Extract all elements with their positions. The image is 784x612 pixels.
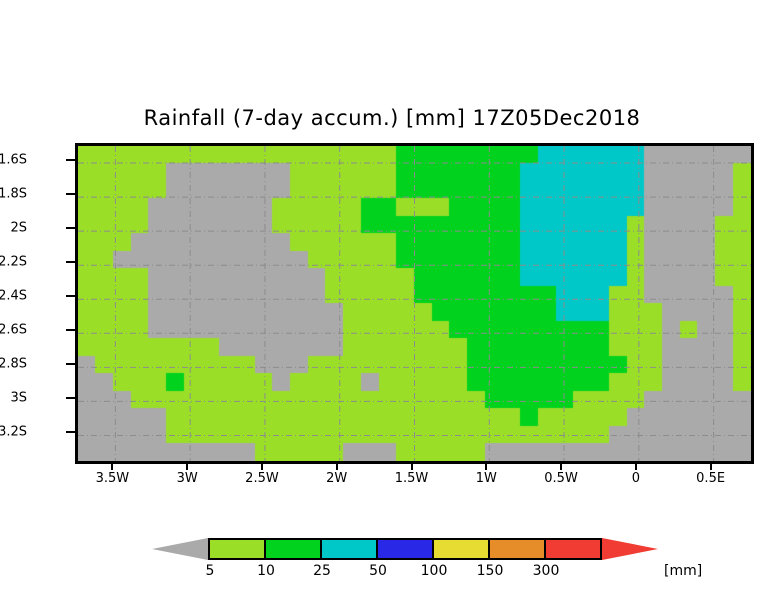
colorbar-tick-label: 300 [533,563,560,579]
x-tick-mark [635,461,637,470]
colorbar-swatch-50-100-blue [378,540,434,558]
y-tick-mark [66,159,75,161]
x-tick-mark [560,461,562,470]
y-tick-label: 2.2S [0,255,27,270]
y-tick-mark [66,363,75,365]
colorbar-tick-label: 5 [206,563,215,579]
x-tick-label: 0.5W [544,471,578,486]
colorbar-tick-label: 25 [313,563,331,579]
x-tick-mark [411,461,413,470]
y-tick-label: 2S [10,221,27,236]
x-tick-label: 1W [476,471,497,486]
colorbar-swatch-10-25-green [266,540,322,558]
x-tick-label: 2.5W [245,471,279,486]
x-tick-label: 3.5W [96,471,130,486]
y-tick-label: 2.6S [0,323,27,338]
y-tick-mark [66,295,75,297]
colorbar-tick-label: 10 [257,563,275,579]
y-tick-label: 1.6S [0,153,27,168]
y-tick-mark [66,431,75,433]
colorbar-tick-label: 150 [477,563,504,579]
rainfall-heatmap [78,146,751,461]
colorbar-swatch-25-50-cyan [322,540,378,558]
colorbar-swatches [208,538,602,560]
x-tick-label: 2W [326,471,347,486]
x-tick-mark [111,461,113,470]
x-tick-mark [261,461,263,470]
x-tick-label: 0.5E [696,471,725,486]
page-title: Rainfall (7-day accum.) [mm] 17Z05Dec201… [0,106,784,130]
x-tick-label: 1.5W [395,471,429,486]
y-tick-mark [66,193,75,195]
x-tick-label: 0 [632,471,640,486]
x-tick-mark [186,461,188,470]
colorbar-swatch-150-300-orange [490,540,546,558]
x-tick-label: 3W [177,471,198,486]
x-tick-mark [485,461,487,470]
y-tick-mark [66,227,75,229]
colorbar-swatch-above-300-red [546,540,600,558]
colorbar: [mm] 5102550100150300 [0,534,784,594]
colorbar-tick-label: 50 [369,563,387,579]
colorbar-tick-label: 100 [421,563,448,579]
colorbar-under-arrow [152,538,208,560]
y-tick-label: 3S [10,391,27,406]
y-tick-mark [66,261,75,263]
rainfall-map-plot [75,143,754,464]
colorbar-units-label: [mm] [664,563,702,579]
y-tick-label: 2.8S [0,357,27,372]
y-tick-label: 1.8S [0,187,27,202]
colorbar-over-arrow [602,538,658,560]
x-tick-mark [336,461,338,470]
x-tick-mark [710,461,712,470]
y-tick-mark [66,329,75,331]
colorbar-swatch-5-10-yellowgreen [210,540,266,558]
y-tick-label: 2.4S [0,289,27,304]
y-tick-label: 3.2S [0,425,27,440]
y-tick-mark [66,397,75,399]
colorbar-swatch-100-150-yellow [434,540,490,558]
